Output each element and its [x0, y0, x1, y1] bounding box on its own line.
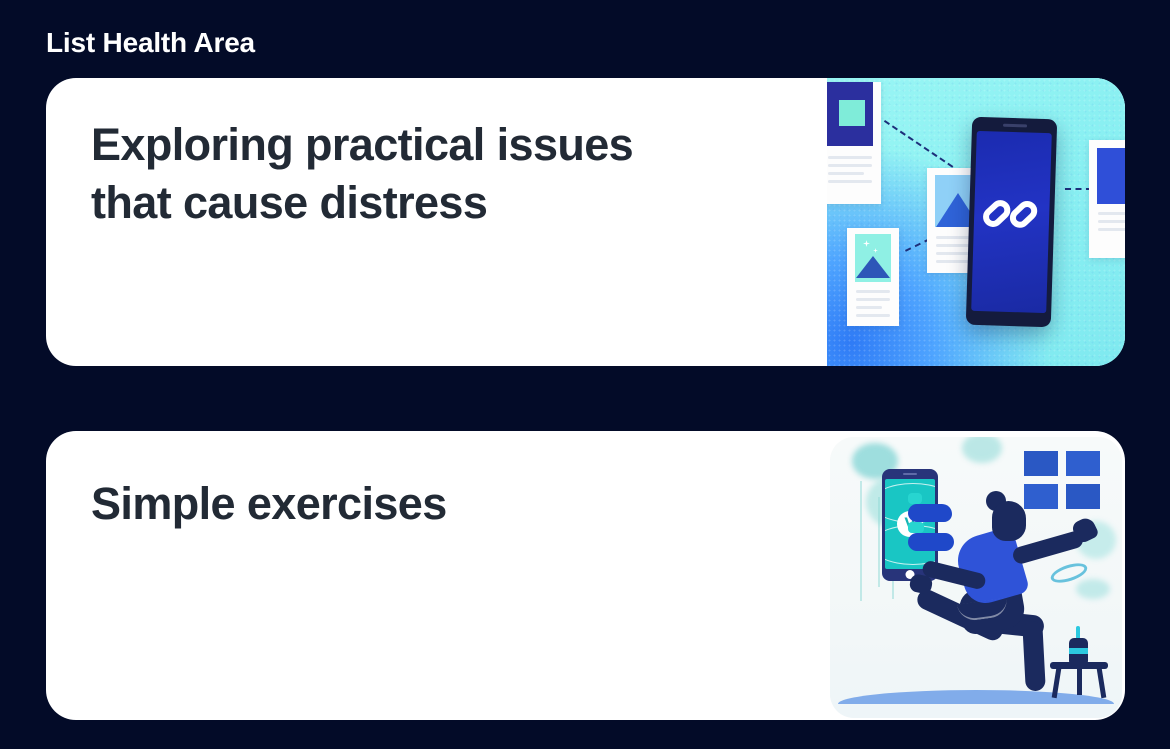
card-illustration: V	[830, 437, 1122, 718]
card-illustration	[827, 78, 1125, 366]
paint-drip-icon	[860, 481, 862, 601]
stool-with-bottle-icon	[1050, 636, 1108, 698]
paint-drip-icon	[878, 497, 880, 587]
app-screen: List Health Area Exploring practical iss…	[0, 0, 1170, 749]
card-title: Simple exercises	[91, 475, 711, 533]
image-card-icon	[847, 228, 899, 326]
card-title: Exploring practical issues that cause di…	[91, 116, 651, 232]
page-title: List Health Area	[46, 24, 255, 62]
document-card-icon	[1089, 140, 1125, 258]
health-area-card[interactable]: Simple exercises V	[46, 431, 1125, 720]
document-card-icon	[827, 82, 881, 204]
health-area-card[interactable]: Exploring practical issues that cause di…	[46, 78, 1125, 366]
smartphone-icon	[966, 117, 1057, 328]
